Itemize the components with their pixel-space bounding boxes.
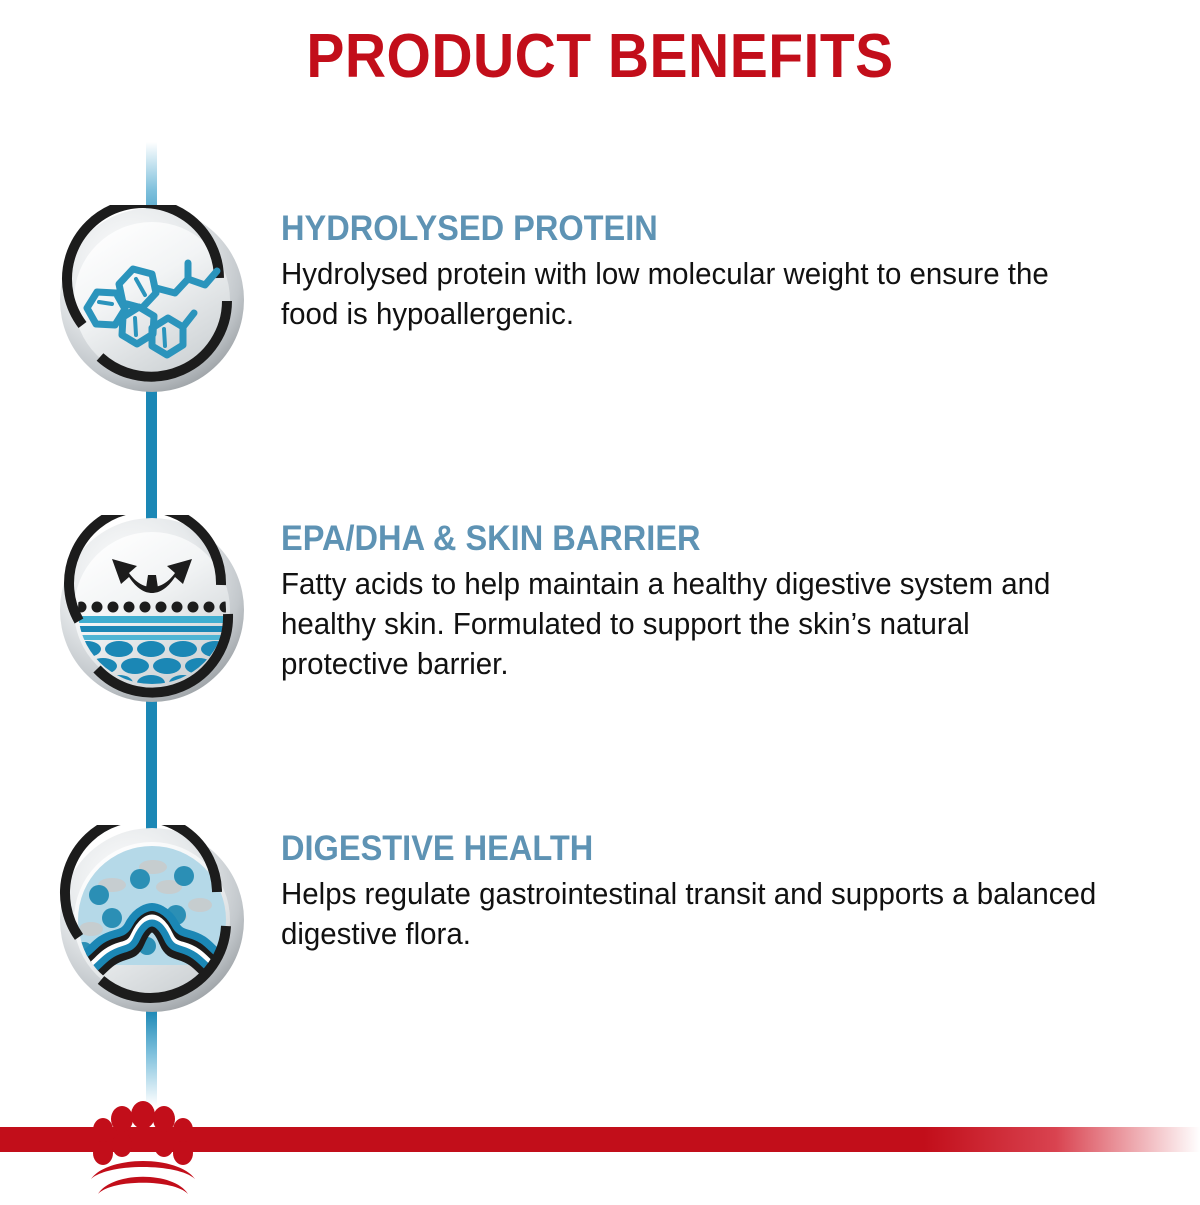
page-title: PRODUCT BENEFITS — [48, 26, 1152, 88]
royal-canin-crown-logo — [78, 1097, 208, 1200]
benefit-text-block: HYDROLYSED PROTEIN Hydrolysed protein wi… — [281, 211, 1141, 334]
molecule-icon — [57, 205, 247, 395]
benefit-item-epa-dha-skin-barrier: EPA/DHA & SKIN BARRIER Fatty acids to he… — [0, 515, 1200, 715]
benefit-text-block: EPA/DHA & SKIN BARRIER Fatty acids to he… — [281, 521, 1141, 685]
skin-barrier-icon — [57, 515, 247, 705]
benefit-item-digestive-health: DIGESTIVE HEALTH Helps regulate gastroin… — [0, 825, 1200, 1025]
benefit-heading: EPA/DHA & SKIN BARRIER — [281, 521, 1081, 558]
digestive-health-icon — [57, 825, 247, 1015]
benefit-body: Fatty acids to help maintain a healthy d… — [281, 564, 1098, 685]
benefit-text-block: DIGESTIVE HEALTH Helps regulate gastroin… — [281, 831, 1141, 954]
benefit-body: Helps regulate gastrointestinal transit … — [281, 874, 1098, 955]
benefit-heading: HYDROLYSED PROTEIN — [281, 211, 1081, 248]
benefit-item-hydrolysed-protein: HYDROLYSED PROTEIN Hydrolysed protein wi… — [0, 205, 1200, 405]
benefit-heading: DIGESTIVE HEALTH — [281, 831, 1081, 868]
benefit-body: Hydrolysed protein with low molecular we… — [281, 254, 1098, 335]
